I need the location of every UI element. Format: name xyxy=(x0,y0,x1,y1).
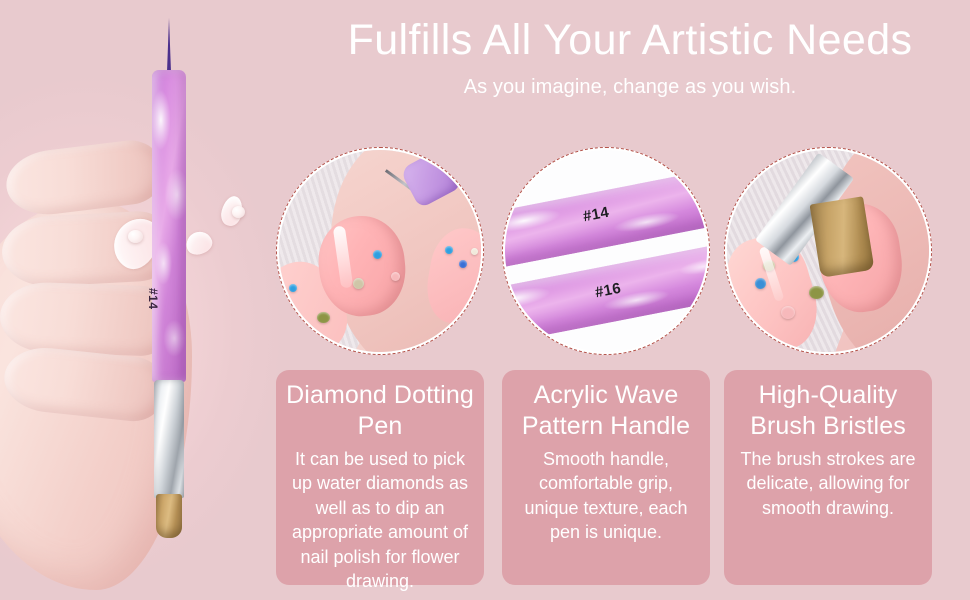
nail-pearl-decoration xyxy=(232,206,245,218)
feature-photo-handles: #14 #16 xyxy=(502,147,710,355)
nail-dot xyxy=(289,284,297,292)
feature-photo-dotting-pen xyxy=(276,147,484,355)
nail-dot xyxy=(755,278,766,289)
dotting-needle-icon xyxy=(167,18,171,72)
card-body: It can be used to pick up water diamonds… xyxy=(285,447,475,594)
nail-dot xyxy=(459,260,467,268)
nail-dot xyxy=(809,286,824,299)
header: Fulfills All Your Artistic Needs As you … xyxy=(290,16,970,99)
nail-dot xyxy=(445,246,453,254)
acrylic-wave-handle: #14 xyxy=(152,70,186,382)
feature-photos-row: #14 #16 xyxy=(276,147,936,357)
nail-dot xyxy=(781,306,795,319)
nail-dot xyxy=(391,272,400,281)
card-title: Diamond Dotting Pen xyxy=(285,380,475,441)
feature-card-dotting-pen: Diamond Dotting Pen It can be used to pi… xyxy=(276,370,484,585)
card-body: Smooth handle, comfortable grip, unique … xyxy=(511,447,701,545)
feature-photo-brush xyxy=(724,147,932,355)
page-subtitle: As you imagine, change as you wish. xyxy=(290,76,970,99)
feature-card-handle: Acrylic Wave Pattern Handle Smooth handl… xyxy=(502,370,710,585)
tool-size-label: #14 xyxy=(146,288,160,310)
nail-art-tool: #14 xyxy=(148,18,192,578)
silver-ferrule xyxy=(154,380,184,498)
nail-dot xyxy=(317,312,330,323)
brush-bristles xyxy=(156,494,182,538)
feature-cards-row: Diamond Dotting Pen It can be used to pi… xyxy=(276,370,936,585)
card-title: Acrylic Wave Pattern Handle xyxy=(511,380,701,441)
nail-pearl-decoration xyxy=(128,230,143,243)
hero-product-photo: #14 xyxy=(0,0,290,600)
card-title: High-Quality Brush Bristles xyxy=(733,380,923,441)
card-body: The brush strokes are delicate, allowing… xyxy=(733,447,923,520)
page-title: Fulfills All Your Artistic Needs xyxy=(290,16,970,64)
photo-content xyxy=(727,150,929,352)
nail-dot xyxy=(373,250,382,259)
brush-bristles xyxy=(810,196,875,278)
finger-index xyxy=(3,137,168,220)
photo-content: #14 #16 xyxy=(505,150,707,352)
product-banner: #14 Fulfills All Your Artistic Needs As … xyxy=(0,0,970,600)
nail-dot xyxy=(353,278,364,289)
feature-card-bristles: High-Quality Brush Bristles The brush st… xyxy=(724,370,932,585)
photo-content xyxy=(279,150,481,352)
nail-dot xyxy=(471,248,478,255)
